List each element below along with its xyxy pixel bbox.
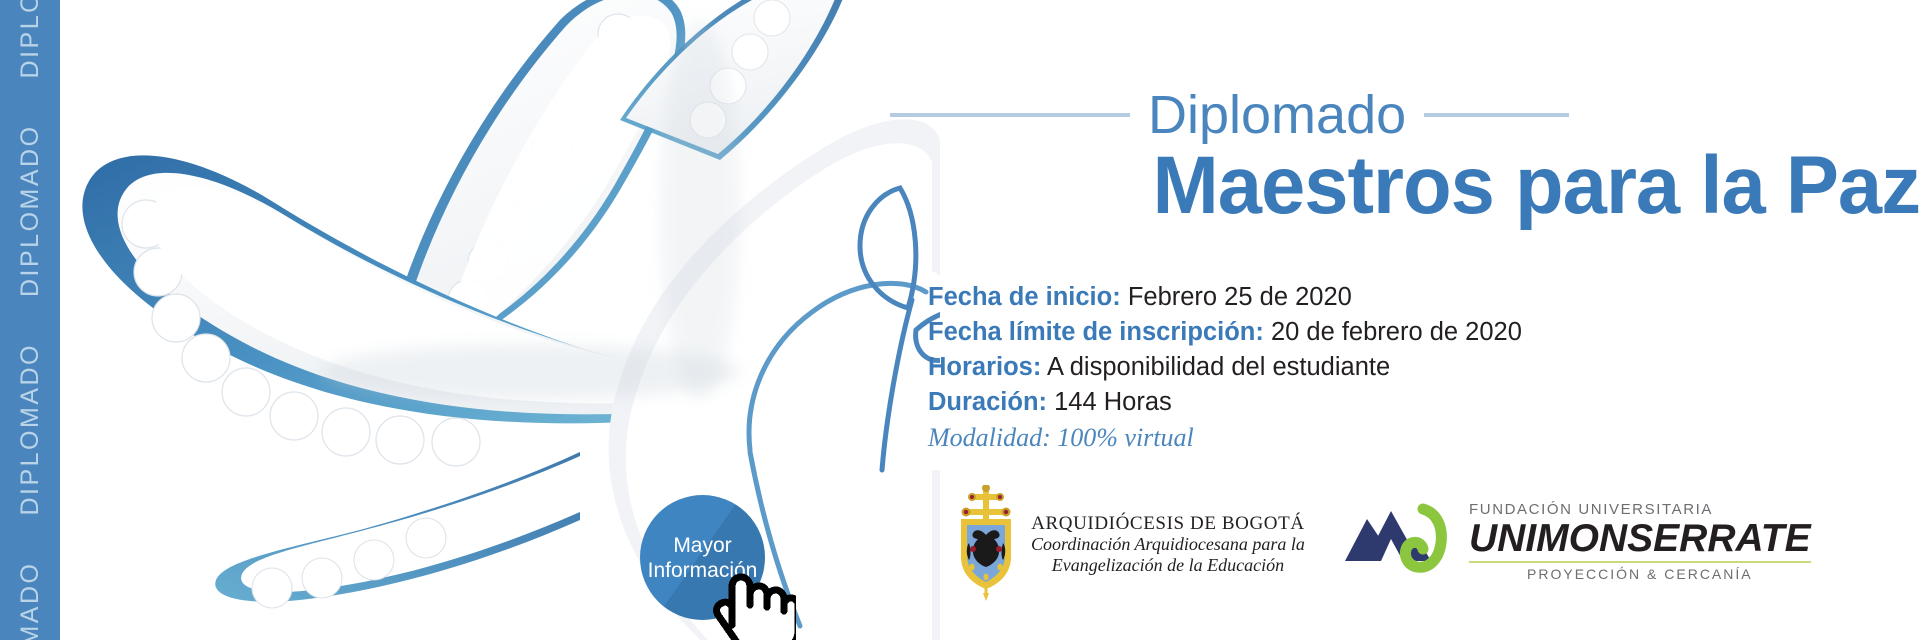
dove-svg	[60, 0, 940, 640]
kicker-diplomado: Diplomado	[1148, 88, 1406, 142]
detail-label: Duración:	[928, 388, 1047, 416]
detail-label: Horarios:	[928, 353, 1041, 381]
side-strip-word: DIPLOMADO	[0, 343, 60, 516]
detail-label: Fecha de inicio:	[928, 283, 1121, 311]
details-list: Fecha de inicio: Febrero 25 de 2020 Fech…	[928, 280, 1920, 455]
detail-value: Febrero 25 de 2020	[1128, 283, 1352, 311]
dove-wing-lower	[215, 452, 580, 608]
side-strip-word: DIPLOMADO	[0, 0, 60, 78]
rule-left	[890, 113, 1130, 117]
side-strip-diplomado: DIPLOMADO DIPLOMADO DIPLOMADO DIPLOMADO	[0, 0, 60, 640]
kicker-row: Diplomado	[900, 88, 1920, 142]
detail-value: 20 de febrero de 2020	[1271, 318, 1522, 346]
dove-illustration	[60, 0, 940, 640]
arquidiocesis-line3: Evangelización de la Educación	[1031, 555, 1305, 576]
side-strip-words: DIPLOMADO DIPLOMADO DIPLOMADO DIPLOMADO	[0, 0, 60, 640]
unimonserrate-line1: FUNDACIÓN UNIVERSITARIA	[1469, 501, 1811, 518]
detail-row: Fecha límite de inscripción: 20 de febre…	[928, 315, 1920, 350]
arquidiocesis-text: ARQUIDIÓCESIS DE BOGOTÁ Coordinación Arq…	[1031, 513, 1305, 576]
detail-value: A disponibilidad del estudiante	[1047, 353, 1390, 381]
pointing-hand-cursor-icon	[710, 553, 796, 640]
unimonserrate-line2: UNIMONSERRATE	[1469, 519, 1811, 559]
promotional-banner: DIPLOMADO DIPLOMADO DIPLOMADO DIPLOMADO	[0, 0, 1920, 640]
detail-value: 144 Horas	[1054, 388, 1172, 416]
detail-row: Fecha de inicio: Febrero 25 de 2020	[928, 280, 1920, 315]
unimonserrate-line3: PROYECCIÓN & CERCANÍA	[1469, 566, 1811, 582]
detail-row: Horarios: A disponibilidad del estudiant…	[928, 350, 1920, 385]
page-title: Maestros para la Paz	[921, 140, 1920, 232]
unimonserrate-text: FUNDACIÓN UNIVERSITARIA UNIMONSERRATE PR…	[1435, 501, 1811, 582]
side-strip-word: DIPLOMADO	[0, 124, 60, 297]
rule-right	[1424, 113, 1569, 117]
arquidiocesis-line2: Coordinación Arquidiocesana para la	[1031, 534, 1305, 555]
shield-icon	[961, 519, 1011, 589]
arquidiocesis-line1: ARQUIDIÓCESIS DE BOGOTÁ	[1031, 513, 1305, 534]
modality-text: Modalidad: 100% virtual	[928, 420, 1920, 455]
logo-row: ARQUIDIÓCESIS DE BOGOTÁ Coordinación Arq…	[955, 485, 1920, 625]
side-strip-word: DIPLOMADO	[0, 562, 60, 640]
unimonserrate-divider	[1469, 561, 1811, 563]
content-column: Diplomado Maestros para la Paz Fecha de …	[900, 0, 1920, 640]
logo-unimonserrate: FUNDACIÓN UNIVERSITARIA UNIMONSERRATE PR…	[1345, 501, 1811, 582]
archdiocese-coat-of-arms-icon	[955, 485, 1017, 603]
detail-row: Duración: 144 Horas	[928, 385, 1920, 420]
logo-arquidiocesis: ARQUIDIÓCESIS DE BOGOTÁ Coordinación Arq…	[955, 485, 1305, 603]
detail-label: Fecha límite de inscripción:	[928, 318, 1264, 346]
